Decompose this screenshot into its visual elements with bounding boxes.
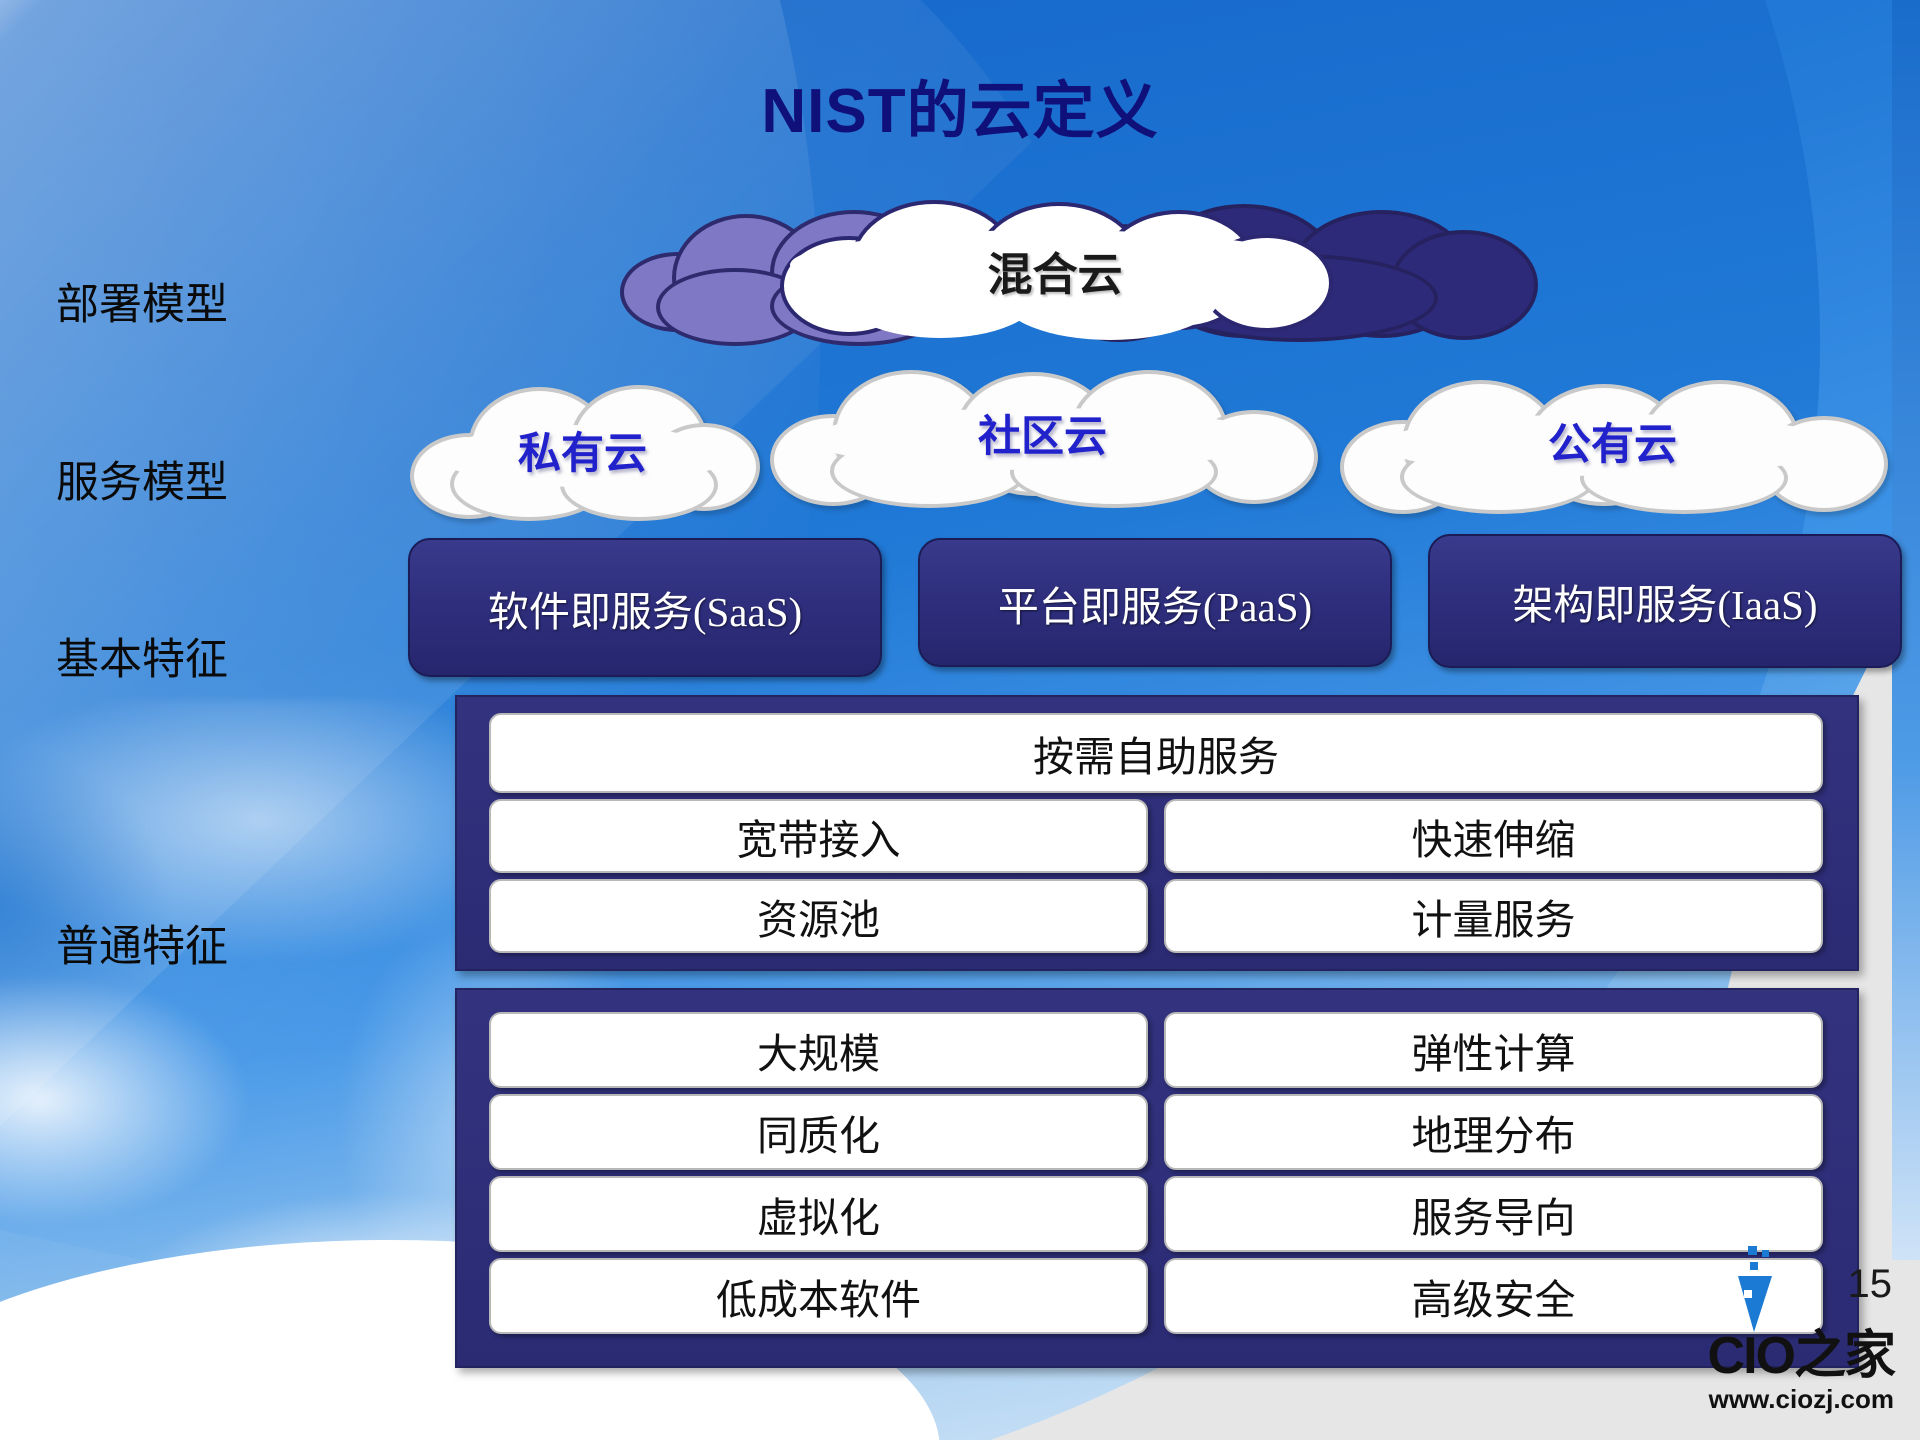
common-cell-massive-scale[interactable]: 大规模 <box>489 1012 1148 1088</box>
saas-box[interactable]: 软件即服务(SaaS) <box>408 538 882 677</box>
essential-cell-on-demand[interactable]: 按需自助服务 <box>489 713 1823 793</box>
hybrid-cloud-label: 混合云 <box>780 238 1330 303</box>
ciozj-logo-url: www.ciozj.com <box>1708 1384 1894 1415</box>
paas-box[interactable]: 平台即服务(PaaS) <box>918 538 1392 667</box>
common-cell-elastic-compute[interactable]: 弹性计算 <box>1164 1012 1823 1088</box>
page-title: NIST的云定义 <box>0 60 1920 150</box>
essential-cell-broad-access[interactable]: 宽带接入 <box>489 799 1148 873</box>
row-label-common-characteristics: 普通特征 <box>56 912 356 974</box>
ciozj-logo: CIO之家 www.ciozj.com <box>1708 1330 1894 1415</box>
common-cell-homogeneity[interactable]: 同质化 <box>489 1094 1148 1170</box>
public-cloud: 公有云 <box>1340 380 1885 510</box>
hybrid-cloud-group: 混合云 <box>620 200 1530 340</box>
common-cell-virtualization[interactable]: 虚拟化 <box>489 1176 1148 1252</box>
public-cloud-label: 公有云 <box>1340 410 1885 472</box>
page-number: 15 <box>1848 1262 1893 1307</box>
ciozj-logo-mark <box>1720 1246 1774 1332</box>
private-cloud: 私有云 <box>410 385 755 515</box>
row-label-deployment-model: 部署模型 <box>56 270 356 332</box>
ciozj-logo-text: CIO之家 <box>1708 1330 1894 1382</box>
essential-characteristics-panel: 按需自助服务 宽带接入 快速伸缩 资源池 计量服务 <box>455 695 1859 971</box>
common-cell-service-orientation[interactable]: 服务导向 <box>1164 1176 1823 1252</box>
iaas-box[interactable]: 架构即服务(IaaS) <box>1428 534 1902 668</box>
community-cloud: 社区云 <box>770 370 1315 505</box>
common-characteristics-panel: 大规模 弹性计算 同质化 地理分布 虚拟化 服务导向 低成本软件 高级安全 <box>455 988 1859 1368</box>
common-cell-geographic-distribution[interactable]: 地理分布 <box>1164 1094 1823 1170</box>
row-label-essential-characteristics: 基本特征 <box>56 625 356 687</box>
essential-cell-rapid-elasticity[interactable]: 快速伸缩 <box>1164 799 1823 873</box>
community-cloud-label: 社区云 <box>770 402 1315 464</box>
row-label-service-model: 服务模型 <box>56 448 356 510</box>
essential-cell-measured-service[interactable]: 计量服务 <box>1164 879 1823 953</box>
essential-cell-resource-pool[interactable]: 资源池 <box>489 879 1148 953</box>
hybrid-cloud-main: 混合云 <box>780 200 1330 340</box>
slide: NIST的云定义 部署模型 服务模型 基本特征 普通特征 <box>0 0 1920 1440</box>
private-cloud-label: 私有云 <box>410 419 755 481</box>
common-cell-low-cost-software[interactable]: 低成本软件 <box>489 1258 1148 1334</box>
